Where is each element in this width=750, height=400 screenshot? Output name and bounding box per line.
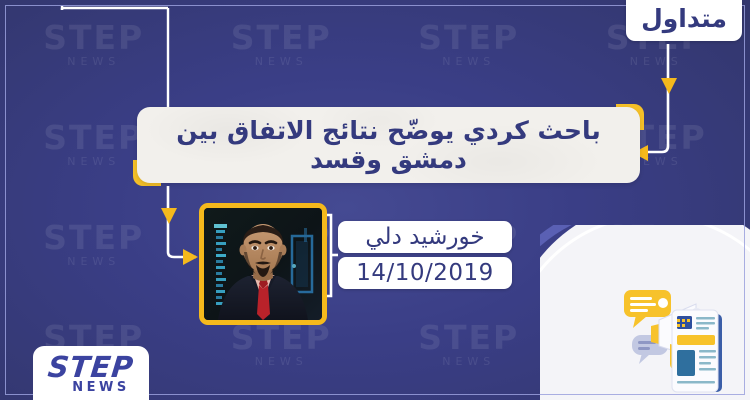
arrow-right-icon xyxy=(183,249,198,265)
guest-portrait-image xyxy=(204,208,322,320)
watermark-tile: STEPNEWS xyxy=(418,21,519,71)
watermark-tile: STEPNEWS xyxy=(418,321,519,371)
step-news-watermark-pattern: STEPNEWS STEPNEWS STEPNEWS STEPNEWS STEP… xyxy=(0,0,750,400)
chat-bubble-icon xyxy=(632,335,668,364)
publish-date: 14/10/2019 xyxy=(338,257,512,289)
decorative-arc-blue xyxy=(540,225,750,400)
watermark-tile: STEPNEWS xyxy=(43,221,144,271)
guest-photo xyxy=(199,203,327,325)
corner-decoration xyxy=(540,225,750,400)
card-border-frame xyxy=(5,5,745,395)
arrow-down-icon xyxy=(661,78,677,94)
news-illustration xyxy=(614,280,746,398)
watermark-tile: STEPNEWS xyxy=(606,221,707,271)
guest-name: خورشيد دلي xyxy=(338,221,512,253)
watermark-tile: STEPNEWS xyxy=(606,321,707,371)
logo-primary-text: STEP xyxy=(47,354,136,382)
step-news-logo[interactable]: STEP NEWS xyxy=(33,346,149,400)
arrow-down-icon xyxy=(161,208,177,224)
status-badge[interactable]: متداول xyxy=(626,0,742,41)
watermark-tile: STEPNEWS xyxy=(43,21,144,71)
headline-container: باحث كردي يوضّح نتائج الاتفاق بين دمشق و… xyxy=(137,107,640,183)
watermark-tile: STEPNEWS xyxy=(231,321,332,371)
news-card: STEPNEWS STEPNEWS STEPNEWS STEPNEWS STEP… xyxy=(0,0,750,400)
watermark-tile: STEPNEWS xyxy=(43,121,144,171)
megaphone-icon xyxy=(651,304,701,369)
connector-lines xyxy=(0,0,750,400)
decorative-arc-white xyxy=(540,225,750,400)
headline-text: باحث كردي يوضّح نتائج الاتفاق بين دمشق و… xyxy=(137,107,640,183)
decorative-arc-outline xyxy=(540,225,750,400)
newspaper-icon xyxy=(672,310,722,392)
watermark-tile: STEPNEWS xyxy=(231,21,332,71)
chat-bubble-icon xyxy=(624,290,671,328)
